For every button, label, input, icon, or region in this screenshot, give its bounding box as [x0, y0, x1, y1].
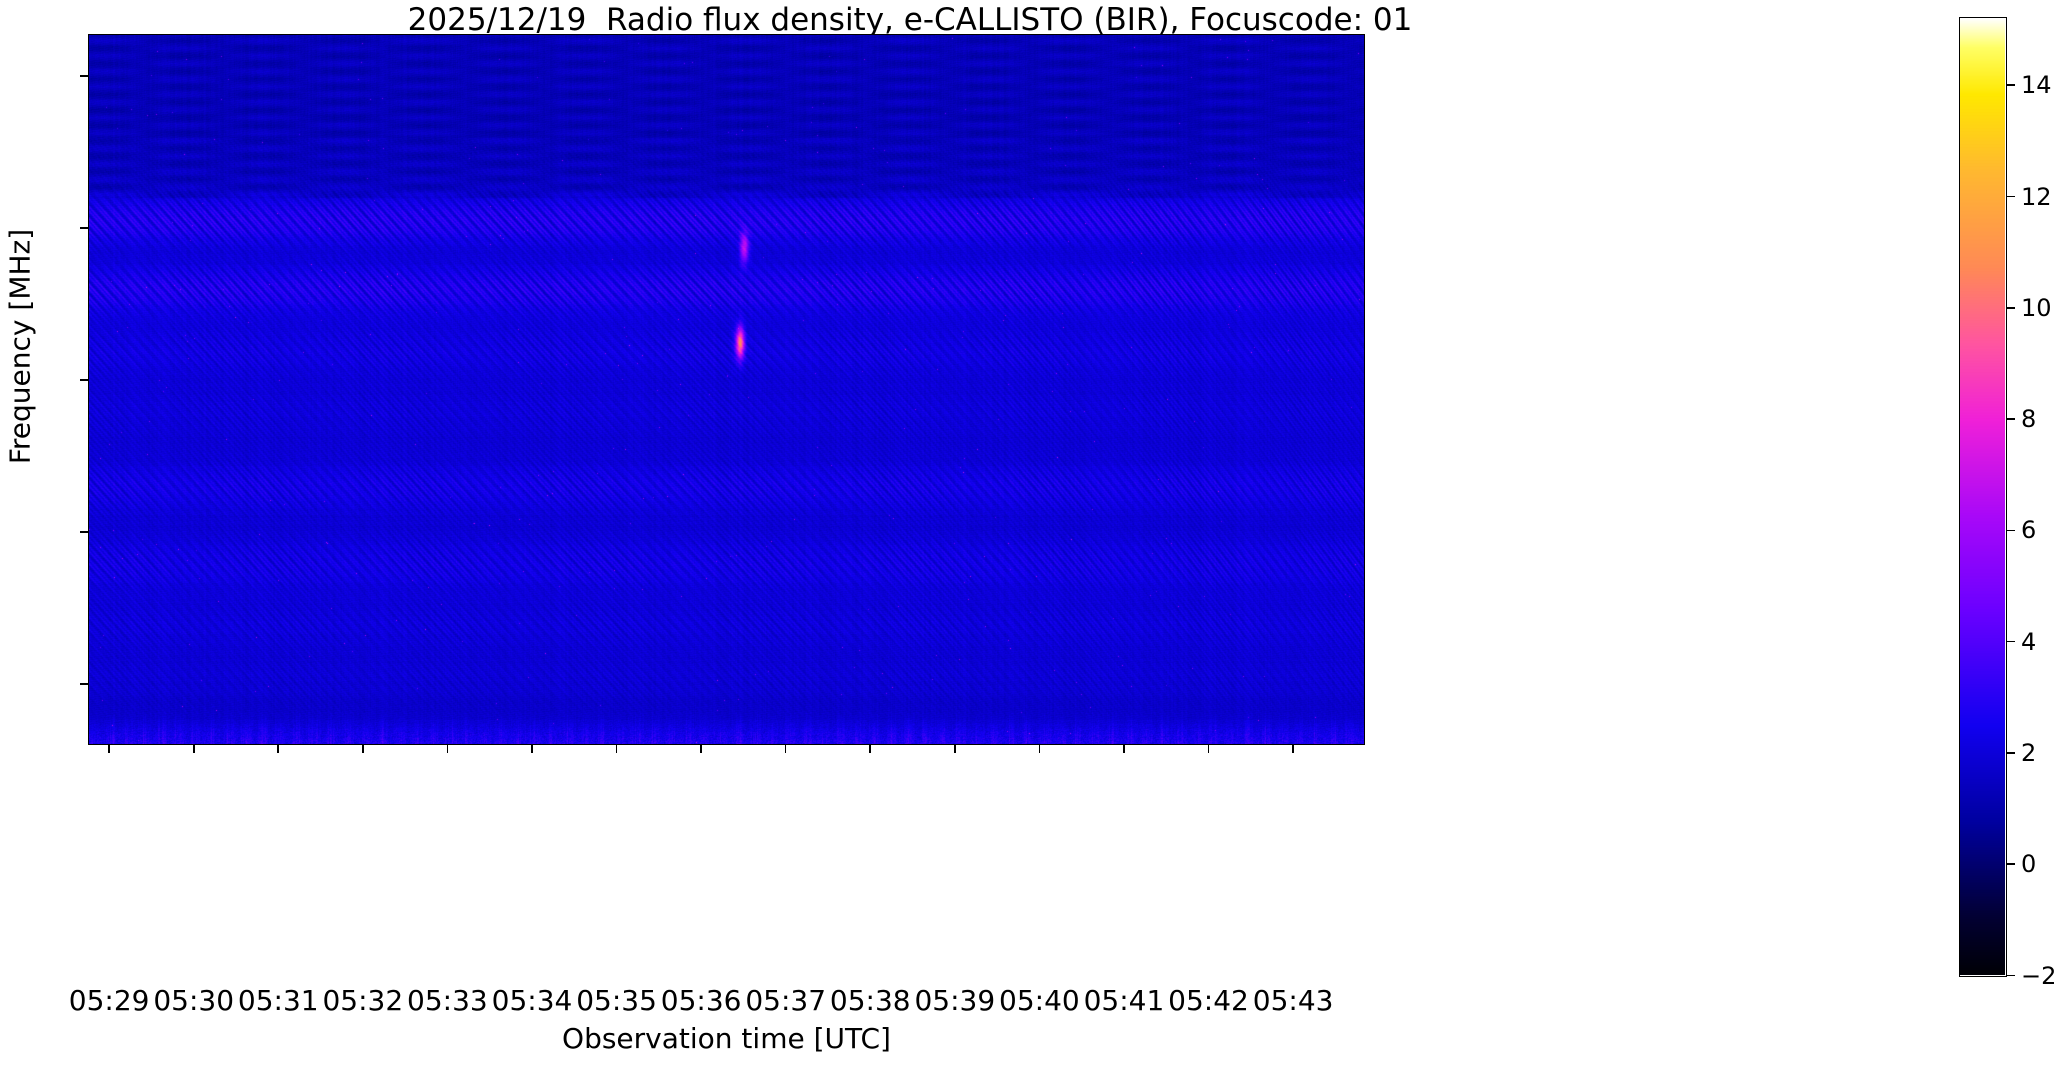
y-tick-mark [80, 531, 88, 533]
colorbar-tick-mark [2007, 307, 2015, 309]
x-axis-label: Observation time [UTC] [88, 1022, 1365, 1055]
x-tick-label: 05:41 [1084, 984, 1165, 1017]
x-tick-mark [193, 745, 195, 753]
x-tick-mark [447, 745, 449, 753]
x-tick-mark [1039, 745, 1041, 753]
colorbar-tick-label: 8 [2021, 405, 2036, 433]
colorbar-tick-label: 10 [2021, 294, 2052, 322]
figure-title: 2025/12/19 Radio flux density, e-CALLIST… [0, 2, 1820, 38]
colorbar-tick-label: 12 [2021, 183, 2052, 211]
colorbar-axes [1959, 17, 2007, 977]
x-tick-label: 05:33 [407, 984, 488, 1017]
x-tick-label: 05:30 [153, 984, 234, 1017]
colorbar-tick-mark [2007, 84, 2015, 86]
y-axis-label: Frequency [MHz] [4, 27, 37, 667]
x-tick-mark [531, 745, 533, 753]
colorbar-tick-mark [2007, 196, 2015, 198]
x-tick-label: 05:34 [492, 984, 573, 1017]
x-tick-label: 05:40 [999, 984, 1080, 1017]
colorbar-tick-label: 6 [2021, 516, 2036, 544]
colorbar-tick-mark [2007, 418, 2015, 420]
y-tick-mark [80, 683, 88, 685]
x-tick-mark [700, 745, 702, 753]
x-tick-label: 05:31 [238, 984, 319, 1017]
x-tick-mark [1123, 745, 1125, 753]
x-tick-mark [362, 745, 364, 753]
colorbar-tick-label: 2 [2021, 739, 2036, 767]
x-tick-mark [869, 745, 871, 753]
colorbar-tick-label: −2 [2021, 962, 2056, 990]
x-tick-label: 05:39 [914, 984, 995, 1017]
colorbar-tick-label: 14 [2021, 71, 2052, 99]
x-tick-label: 05:29 [69, 984, 150, 1017]
y-tick-mark [80, 379, 88, 381]
x-tick-label: 05:36 [661, 984, 742, 1017]
x-tick-mark [954, 745, 956, 753]
x-tick-label: 05:38 [830, 984, 911, 1017]
x-tick-label: 05:43 [1253, 984, 1334, 1017]
y-tick-mark [80, 75, 88, 77]
y-tick-mark [80, 227, 88, 229]
matplotlib-figure: 2025/12/19 Radio flux density, e-CALLIST… [0, 0, 2066, 1067]
x-tick-mark [108, 745, 110, 753]
x-tick-label: 05:32 [322, 984, 403, 1017]
x-tick-label: 05:35 [576, 984, 657, 1017]
colorbar-tick-label: 4 [2021, 628, 2036, 656]
colorbar-tick-mark [2007, 530, 2015, 532]
colorbar-tick-mark [2007, 641, 2015, 643]
x-tick-mark [1208, 745, 1210, 753]
spectrogram-axes [88, 34, 1365, 745]
colorbar-tick-mark [2007, 975, 2015, 977]
colorbar-tick-mark [2007, 752, 2015, 754]
x-tick-mark [277, 745, 279, 753]
colorbar-tick-mark [2007, 863, 2015, 865]
x-tick-mark [1292, 745, 1294, 753]
x-tick-label: 05:42 [1168, 984, 1249, 1017]
colorbar-gradient [1960, 18, 2005, 975]
colorbar-tick-label: 0 [2021, 850, 2036, 878]
x-tick-label: 05:37 [745, 984, 826, 1017]
x-tick-mark [785, 745, 787, 753]
spectrogram-image [89, 35, 1365, 745]
x-tick-mark [616, 745, 618, 753]
